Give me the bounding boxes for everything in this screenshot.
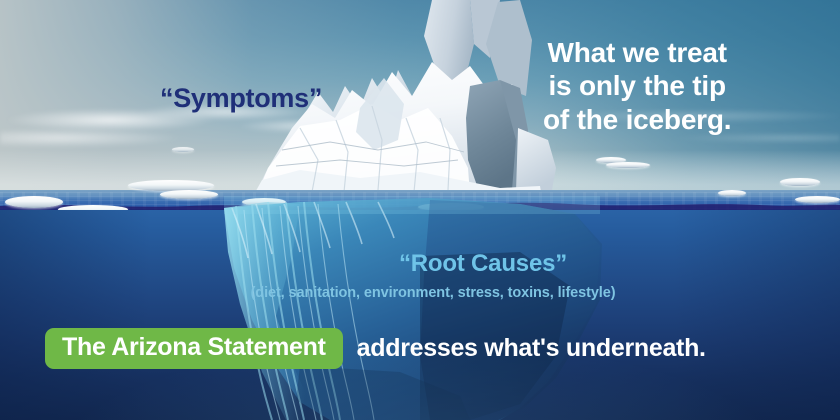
headline-line-2: is only the tip: [543, 69, 731, 102]
root-causes-examples: (diet, sanitation, environment, stress, …: [0, 285, 840, 301]
headline-line-3: of the iceberg.: [543, 103, 731, 136]
symptoms-label: “Symptoms”: [160, 83, 322, 114]
deep-water-shading: [0, 210, 840, 420]
root-causes-examples-text: (diet, sanitation, environment, stress, …: [225, 285, 616, 301]
arizona-statement-badge[interactable]: The Arizona Statement: [45, 328, 343, 369]
ice-floe: [780, 178, 820, 186]
ice-floe: [128, 180, 214, 191]
bottom-callout: The Arizona Statement addresses what's u…: [0, 322, 840, 374]
root-causes-label-text: “Root Causes”: [273, 250, 567, 277]
headline-line-1: What we treat: [543, 36, 731, 69]
headline-text: What we treat is only the tip of the ice…: [543, 36, 731, 136]
ice-floe: [606, 162, 650, 168]
bottom-callout-tail: addresses what's underneath.: [357, 334, 706, 363]
root-causes-label: “Root Causes”: [0, 250, 840, 278]
iceberg-infographic: “Symptoms” What we treat is only the tip…: [0, 0, 840, 420]
ice-floe: [172, 147, 194, 152]
